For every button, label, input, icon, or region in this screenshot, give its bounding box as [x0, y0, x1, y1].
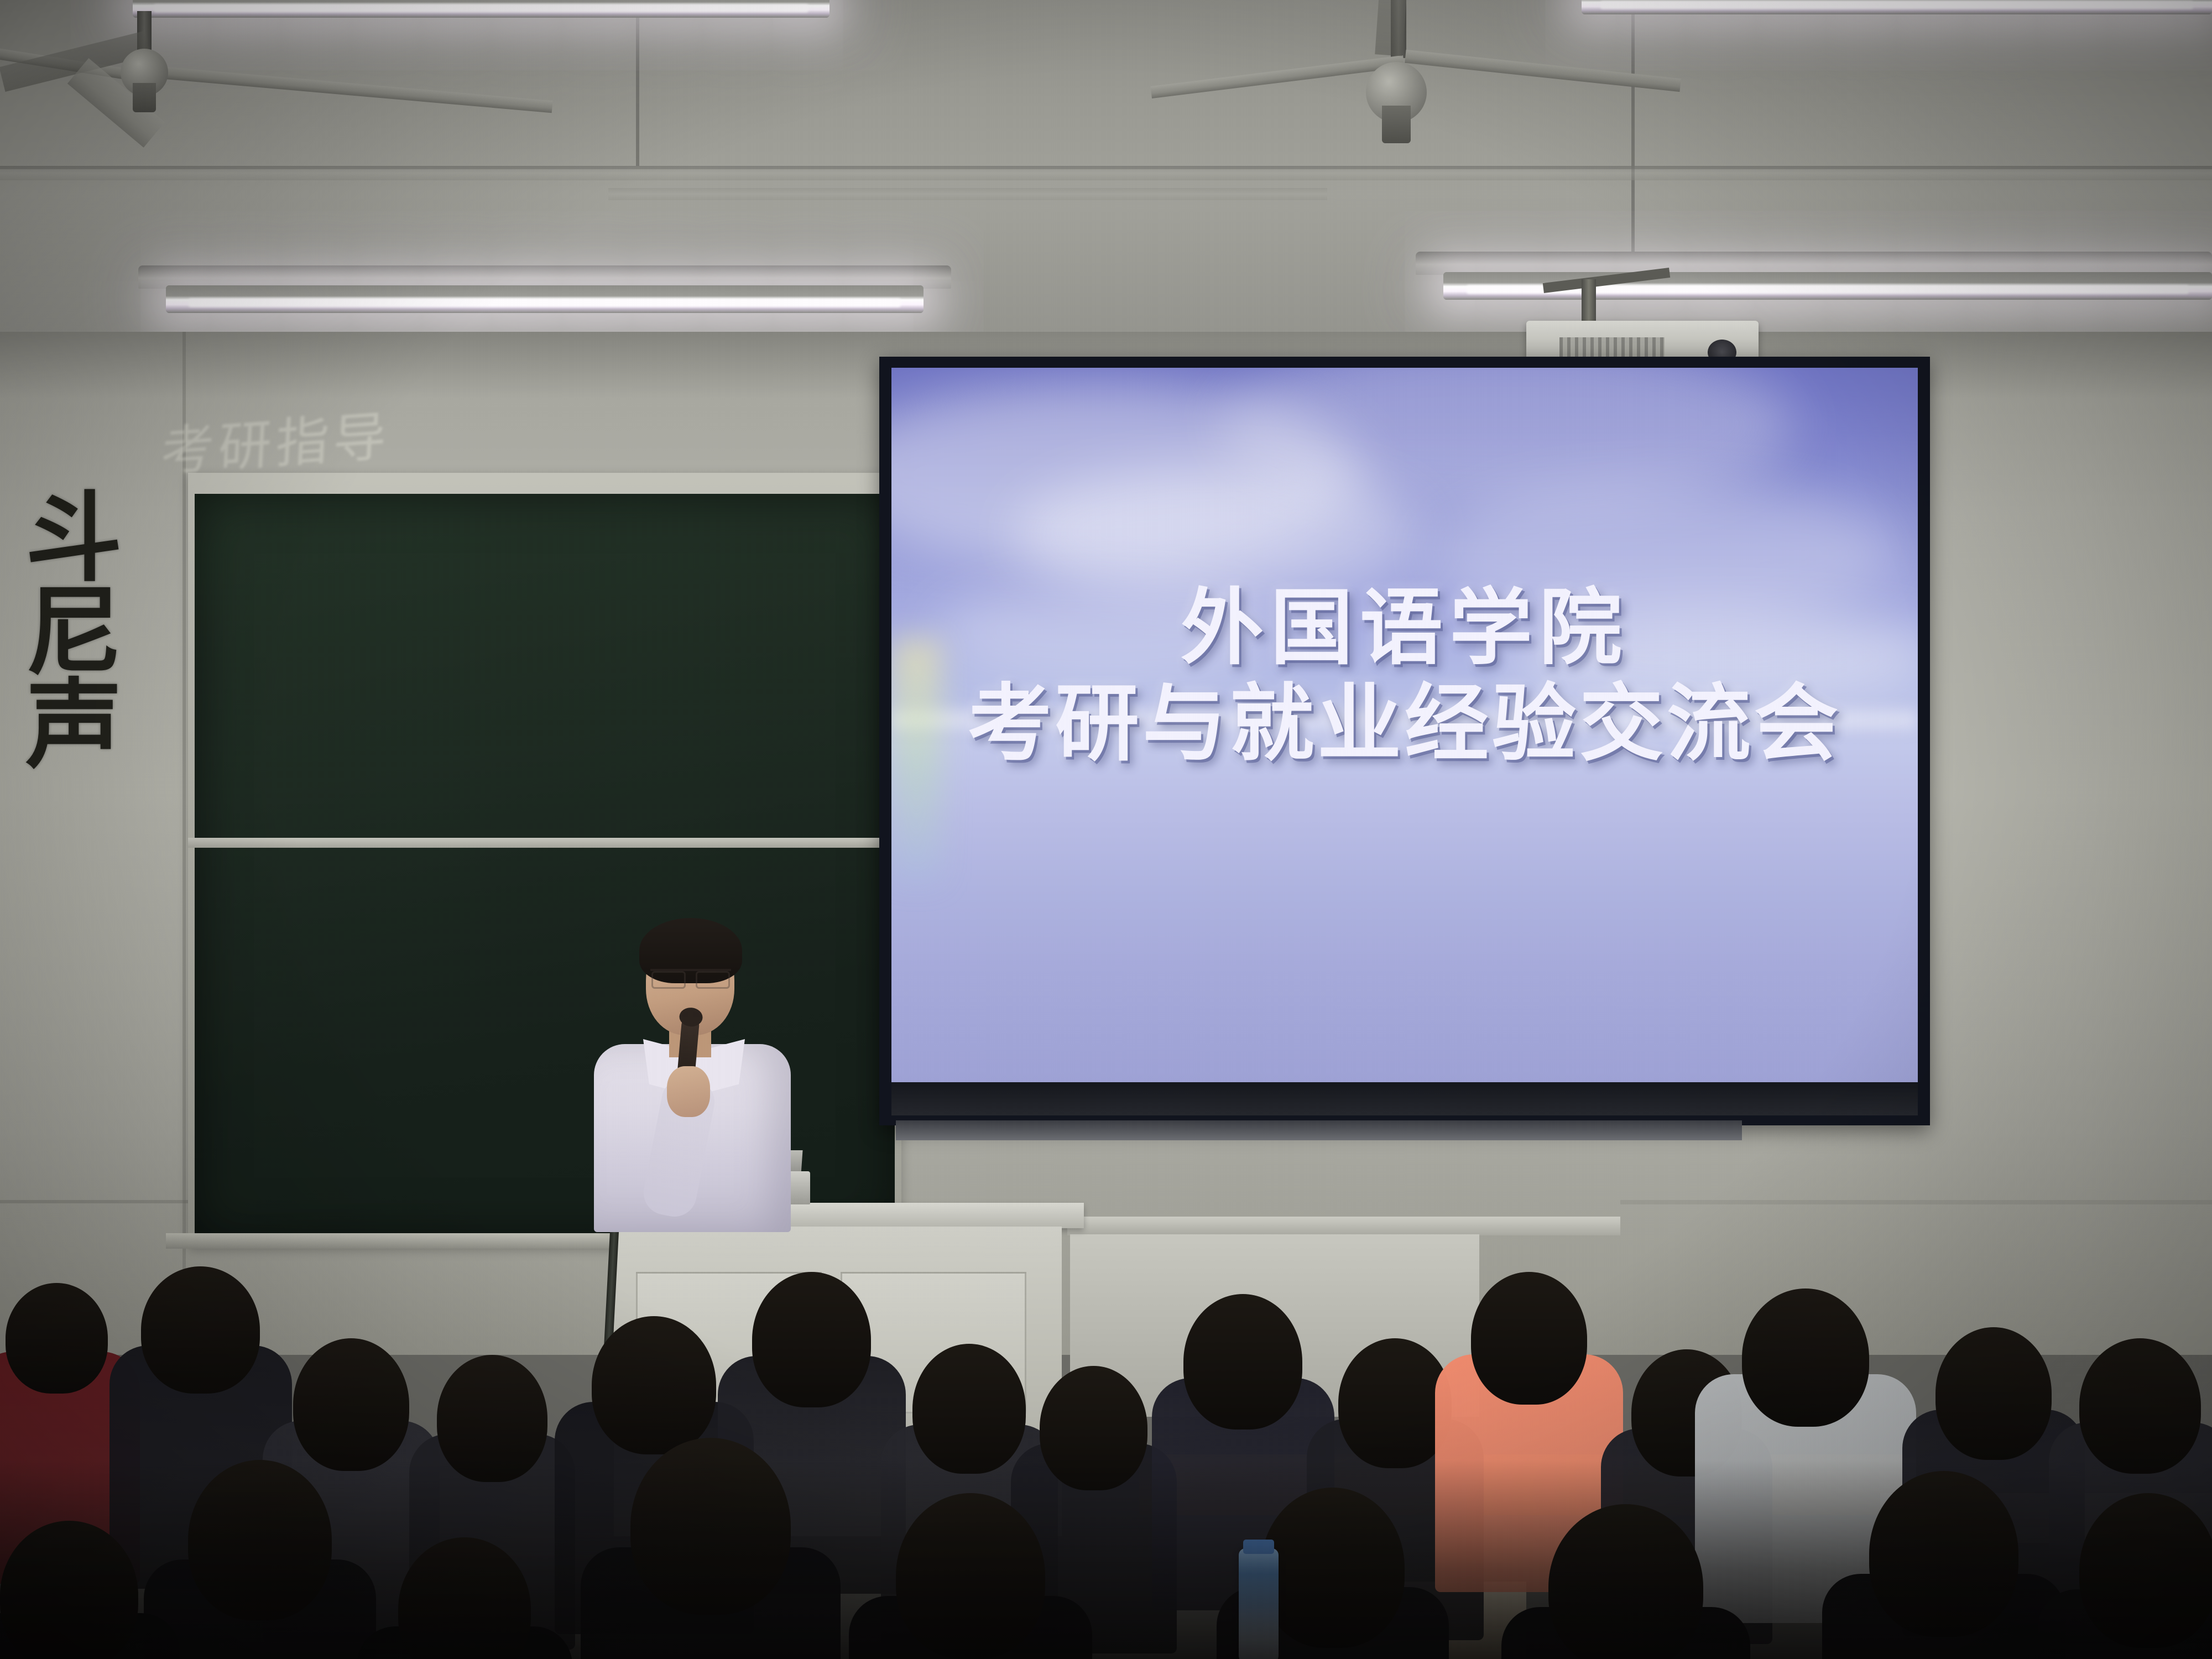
- water-bottle[interactable]: [1239, 1548, 1279, 1659]
- audience-member-2: [141, 1266, 260, 1394]
- presenter: [586, 918, 796, 1228]
- audience-member-20: [1548, 1504, 1703, 1659]
- fluorescent-light-3: [133, 0, 830, 18]
- audience-member-7: [912, 1344, 1026, 1474]
- lecture-hall-photo: 斗尼声 考研指导 外国语学院 考研与就业经验交流会: [0, 0, 2212, 1659]
- screen-bottom-bar: [891, 1082, 1918, 1115]
- ceiling-beam: [0, 166, 2212, 180]
- audience-member-4: [437, 1355, 547, 1482]
- ceiling-fan-left: [121, 49, 168, 96]
- audience-member-9: [1183, 1294, 1302, 1430]
- presenter-hand: [667, 1066, 710, 1117]
- slide-title-line-2: 考研与就业经验交流会: [891, 675, 1918, 774]
- audience-member-6: [752, 1272, 871, 1407]
- screen-roller-case: [896, 1120, 1742, 1140]
- projection-screen-assembly: 外国语学院 考研与就业经验交流会: [879, 357, 1930, 1125]
- audience-member-16: [188, 1460, 332, 1620]
- audience-member-18: [896, 1493, 1045, 1659]
- fan-blade: [1375, 0, 1407, 56]
- chalkboard-divider: [188, 838, 901, 848]
- audience-member-13: [1742, 1288, 1869, 1427]
- audience-member-11: [1471, 1272, 1587, 1405]
- audience-member-3: [293, 1338, 409, 1471]
- cloud: [1015, 468, 1425, 597]
- audience-member-5: [592, 1316, 716, 1454]
- audience-member-21: [1869, 1471, 2018, 1637]
- glasses-icon: [650, 969, 731, 987]
- ceiling-fan-right: [1366, 62, 1427, 123]
- audience-member-22: [2079, 1493, 2212, 1648]
- audience-member-14: [1936, 1327, 2052, 1460]
- wall-seam: [1620, 1200, 2212, 1204]
- ceiling-seam: [636, 0, 639, 166]
- fluorescent-light-1: [166, 285, 924, 313]
- slide-title-line-1: 外国语学院: [891, 582, 1918, 675]
- wall-seam: [0, 1200, 188, 1203]
- audience-member-19: [1261, 1488, 1405, 1648]
- ceiling-seam: [1631, 0, 1635, 254]
- side-table-top: [1067, 1217, 1620, 1235]
- audience-member-8: [1040, 1366, 1147, 1490]
- audience-member-17: [630, 1438, 791, 1615]
- fluorescent-light-4: [1582, 0, 2212, 14]
- slide-text-block: 外国语学院 考研与就业经验交流会: [891, 582, 1918, 774]
- wall-calligraphy: 斗尼声: [0, 487, 112, 767]
- bottle-cap: [1243, 1540, 1274, 1554]
- light-housing: [1416, 252, 2212, 275]
- audience-member-15: [2079, 1338, 2201, 1474]
- ceiling-beam: [608, 188, 1327, 200]
- projection-screen: 外国语学院 考研与就业经验交流会: [891, 368, 1918, 1082]
- audience-member-1: [6, 1283, 108, 1394]
